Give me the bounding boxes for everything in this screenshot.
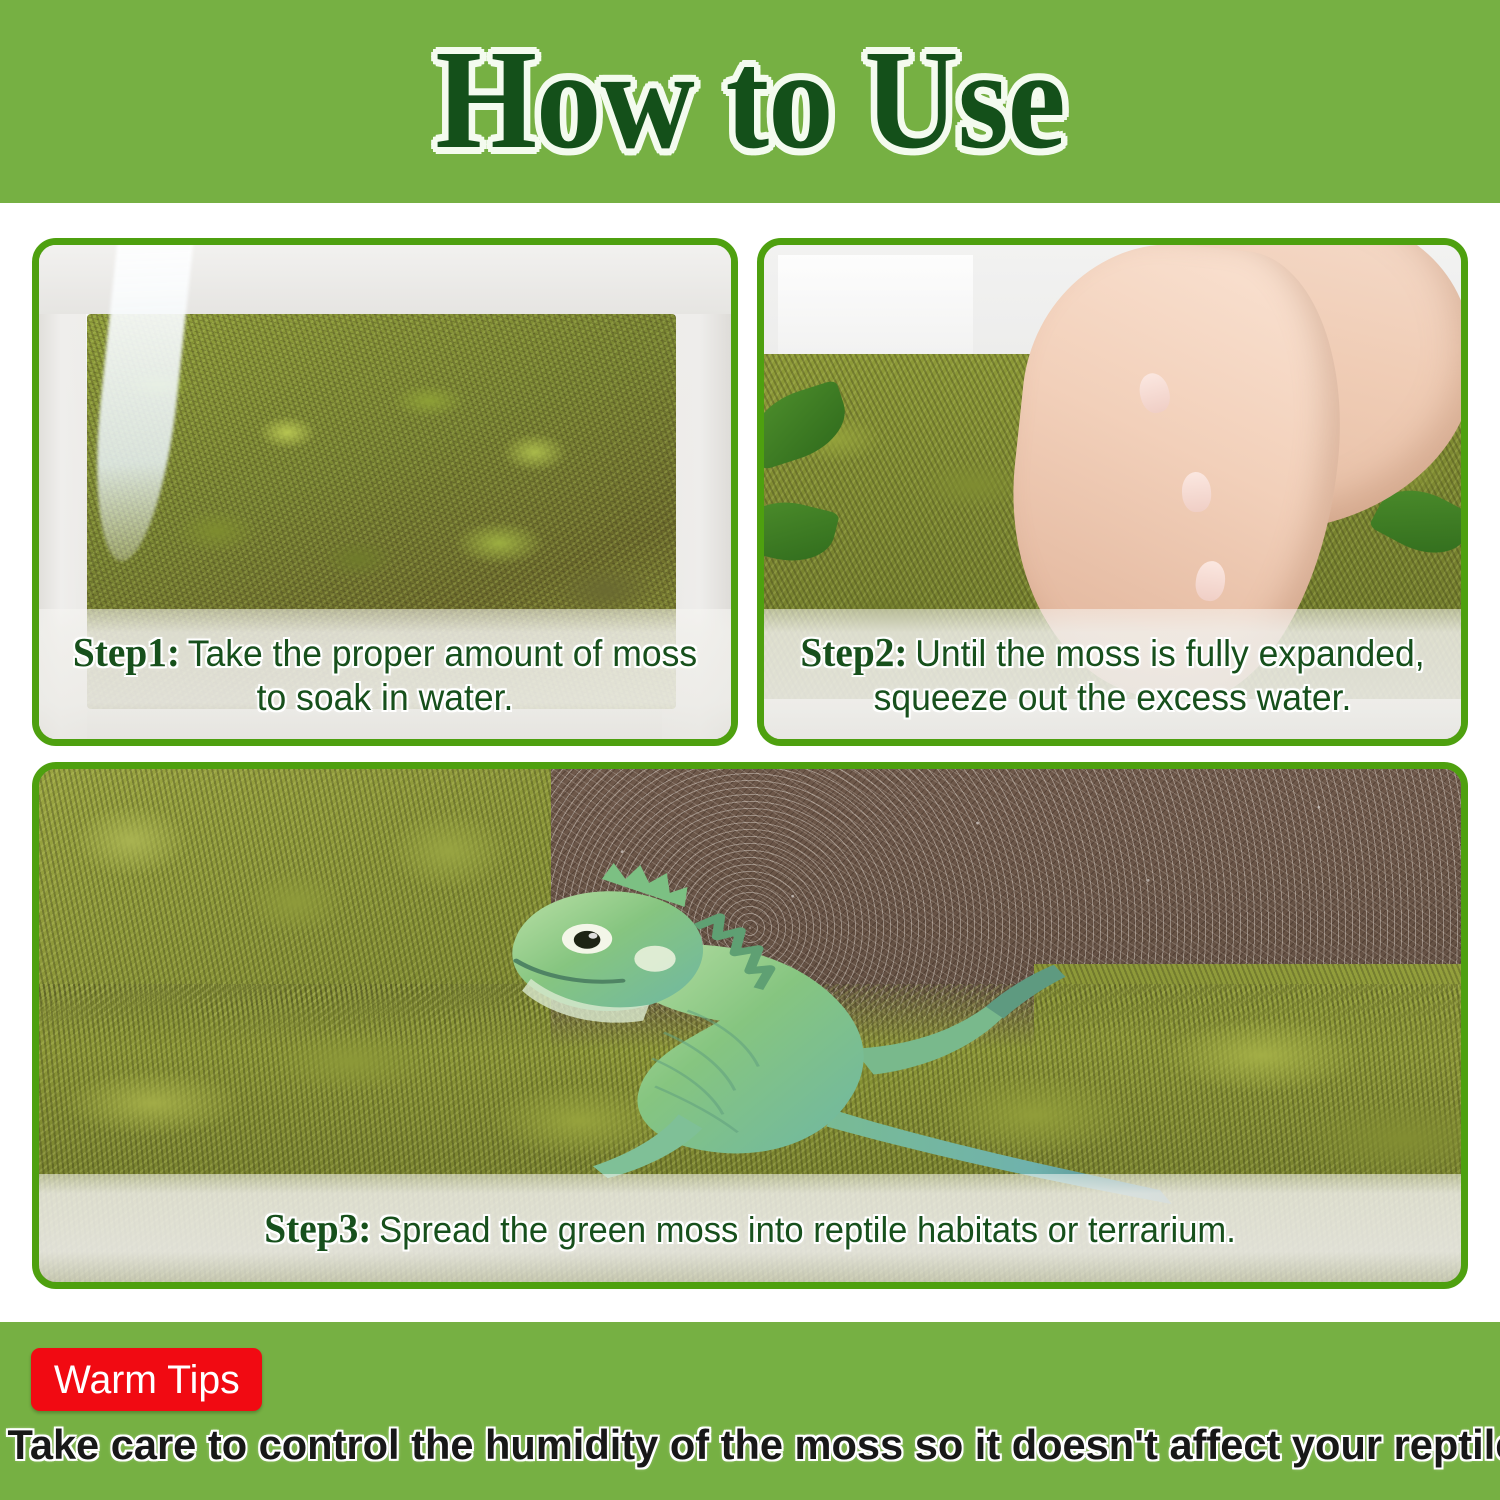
- step2-text: Until the moss is fully expanded, squeez…: [874, 633, 1425, 718]
- step2-caption: Step2:Until the moss is fully expanded, …: [764, 609, 1461, 739]
- step3-label: Step3:: [264, 1205, 379, 1251]
- step2-caption-text: Step2:Until the moss is fully expanded, …: [791, 628, 1433, 720]
- step-card-2: Step2:Until the moss is fully expanded, …: [757, 238, 1468, 746]
- page-title: How to Use: [435, 28, 1064, 176]
- step-card-3: Step3:Spread the green moss into reptile…: [32, 762, 1468, 1289]
- header-banner: How to Use: [0, 0, 1500, 203]
- step1-caption: Step1:Take the proper amount of moss to …: [39, 609, 731, 739]
- warm-tips-badge-label: Warm Tips: [54, 1360, 240, 1400]
- warm-tips-message: Take care to control the humidity of the…: [8, 1424, 1493, 1466]
- clear-tray: [778, 255, 973, 364]
- step2-label: Step2:: [800, 629, 915, 675]
- warm-tips-badge: Warm Tips: [31, 1348, 262, 1411]
- step3-text: Spread the green moss into reptile habit…: [379, 1209, 1236, 1250]
- step3-caption: Step3:Spread the green moss into reptile…: [39, 1174, 1461, 1282]
- step1-caption-text: Step1:Take the proper amount of moss to …: [66, 628, 703, 720]
- step3-caption-text: Step3:Spread the green moss into reptile…: [264, 1204, 1236, 1252]
- lizard-illustration: [466, 861, 1234, 1220]
- step1-label: Step1:: [73, 629, 188, 675]
- step-card-1: Step1:Take the proper amount of moss to …: [32, 238, 738, 746]
- step1-text: Take the proper amount of moss to soak i…: [188, 633, 697, 718]
